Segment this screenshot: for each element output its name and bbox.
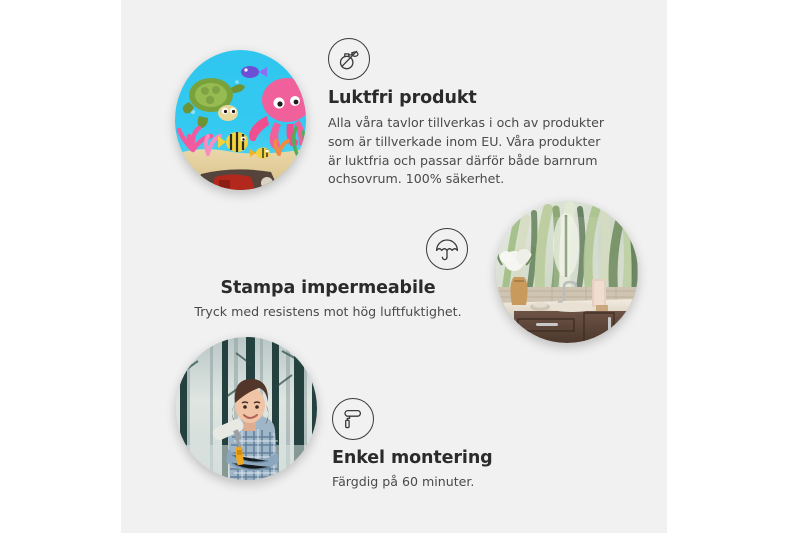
bathroom-wallpaper-photo <box>496 201 638 343</box>
feature-description: Färgdig på 60 minuter. <box>332 473 632 492</box>
no-fragrance-icon <box>328 38 370 80</box>
ocean-kids-mural-photo <box>175 50 306 190</box>
feature-luktfri-produkt: Luktfri produkt Alla våra tavlor tillver… <box>328 38 628 189</box>
umbrella-icon <box>426 228 468 270</box>
feature-title: Enkel montering <box>332 449 632 468</box>
feature-stampa-impermeabile: Stampa impermeabile Tryck med resistens … <box>188 228 468 322</box>
feature-enkel-montering: Enkel montering Färgdig på 60 minuter. <box>332 398 632 492</box>
feature-title: Luktfri produkt <box>328 89 628 108</box>
feature-title: Stampa impermeabile <box>188 279 468 298</box>
feature-description: Alla våra tavlor tillverkas i och av pro… <box>328 114 617 189</box>
promo-banner: Luktfri produkt Alla våra tavlor tillver… <box>0 0 800 533</box>
feature-description: Tryck med resistens mot hög luftfuktighe… <box>188 303 468 322</box>
installer-forest-photo <box>176 337 317 480</box>
paint-roller-icon <box>332 398 374 440</box>
